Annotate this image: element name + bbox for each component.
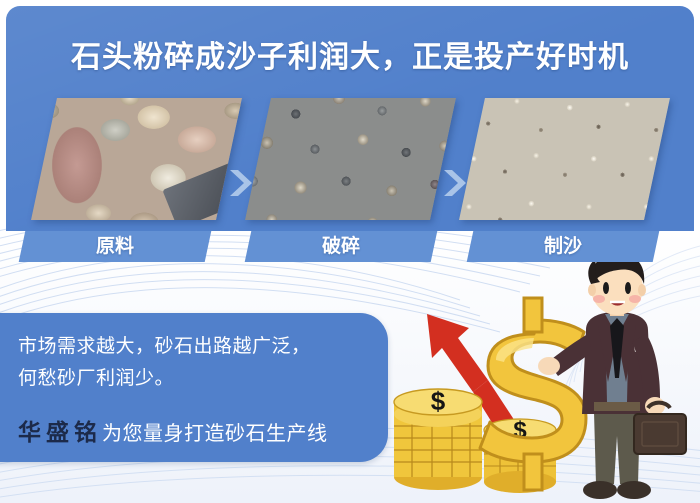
step-image-sand-making <box>459 98 670 220</box>
promotional-banner: 石头粉碎成沙子利润大，正是投产好时机 原料 破碎 制沙 市场需求越大，砂石出路越… <box>0 0 700 503</box>
step-image-raw-material <box>31 98 242 220</box>
manufactured-sand-photo <box>459 98 670 220</box>
businessman-with-briefcase-icon <box>538 262 686 499</box>
page-title: 石头粉碎成沙子利润大，正是投产好时机 <box>6 32 694 76</box>
step-label: 制沙 <box>470 231 656 262</box>
step-tab-sand-making: 制沙 <box>467 231 660 262</box>
step-tab-crushing: 破碎 <box>245 231 438 262</box>
gold-coin-stack-icon: $ <box>394 386 482 490</box>
brand-tagline: 为您量身打造砂石生产线 <box>102 423 328 445</box>
copy-line-3: 华盛铭为您量身打造砂石生产线 <box>18 413 328 447</box>
step-label: 破碎 <box>248 231 434 262</box>
step-tab-raw-material: 原料 <box>19 231 212 262</box>
brand-name: 华盛铭 <box>18 419 102 445</box>
copy-line-2: 何愁砂厂利润少。 <box>18 363 174 390</box>
chevron-right-icon <box>442 168 468 198</box>
chevron-right-icon <box>228 168 254 198</box>
marketing-copy-panel: 市场需求越大，砂石出路越广泛， 何愁砂厂利润少。 华盛铭为您量身打造砂石生产线 <box>0 313 388 462</box>
step-label: 原料 <box>22 231 208 262</box>
copy-line-1: 市场需求越大，砂石出路越广泛， <box>18 331 311 358</box>
profit-illustration: $ $ <box>372 262 700 503</box>
river-pebbles-photo <box>31 98 242 220</box>
crushed-gravel-photo <box>245 98 456 220</box>
step-image-crushing <box>245 98 456 220</box>
coin-dollar-symbol: $ <box>431 386 446 416</box>
